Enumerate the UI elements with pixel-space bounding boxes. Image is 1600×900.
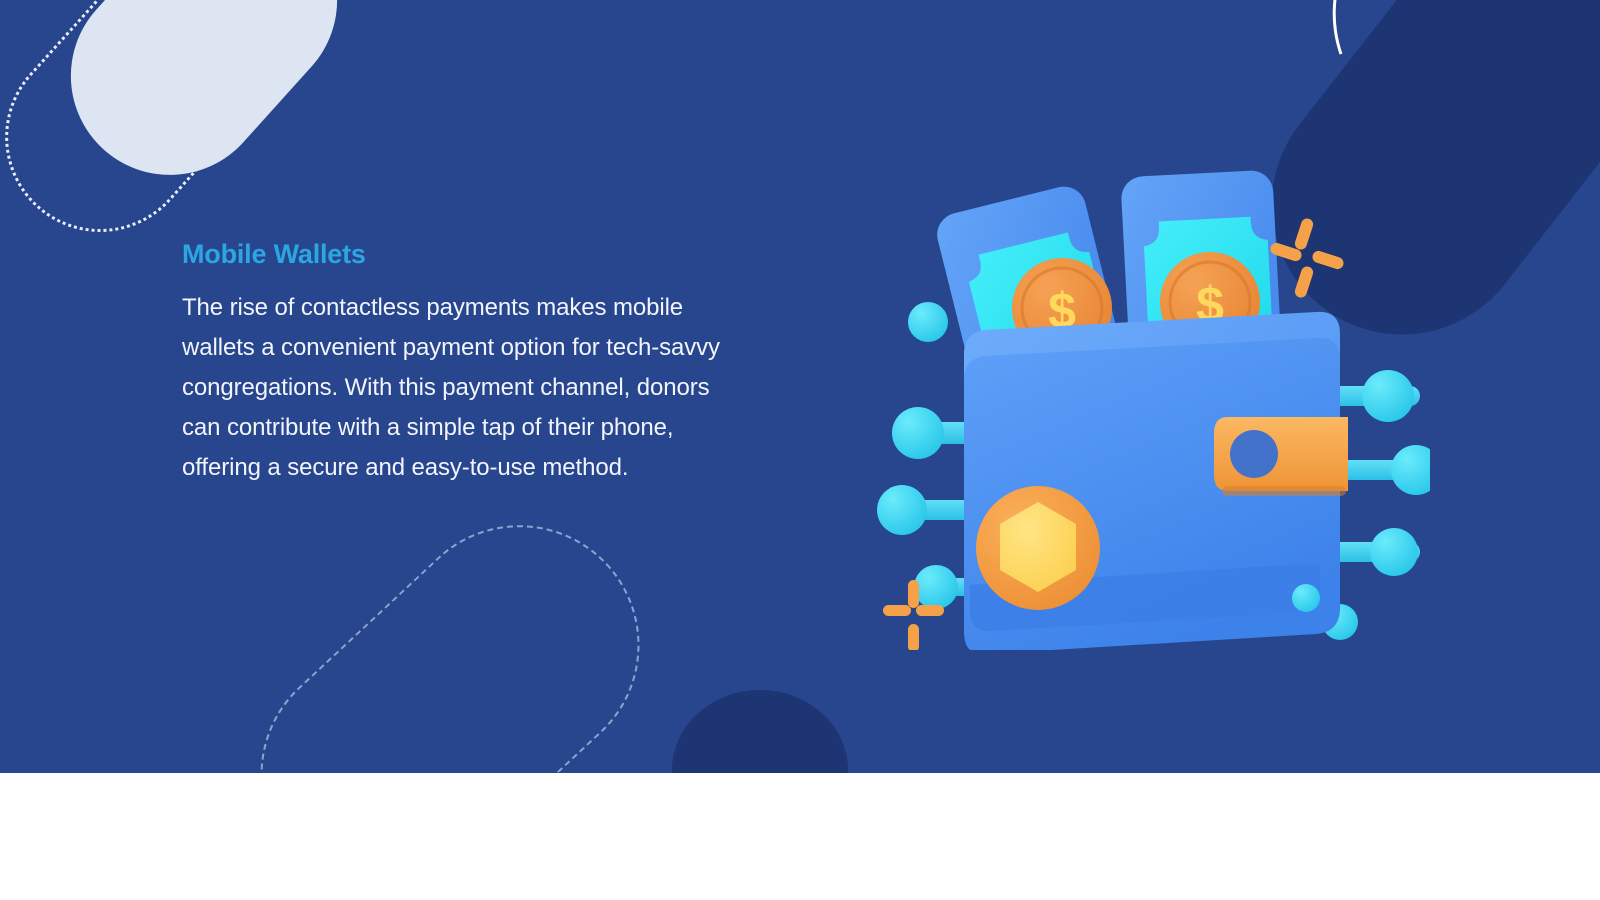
mobile-wallet-illustration: $ $ [850,130,1430,650]
floating-dot [1292,584,1320,612]
slide-stage: Mobile Wallets The rise of contactless p… [0,0,1600,773]
body-paragraph: The rise of contactless payments makes m… [182,288,722,488]
text-block: Mobile Wallets The rise of contactless p… [182,238,722,488]
hex-coin [976,486,1100,610]
pill-dashed-bottom-shape [211,476,689,773]
slide-root: Mobile Wallets The rise of contactless p… [0,0,1600,900]
page-title: Mobile Wallets [182,238,722,270]
blob-dark-bottom-shape [672,690,848,773]
footer-bar: iCGPay.com [0,773,1600,900]
wallet-clasp [1214,417,1348,496]
sparkle-top-right [1269,217,1345,299]
